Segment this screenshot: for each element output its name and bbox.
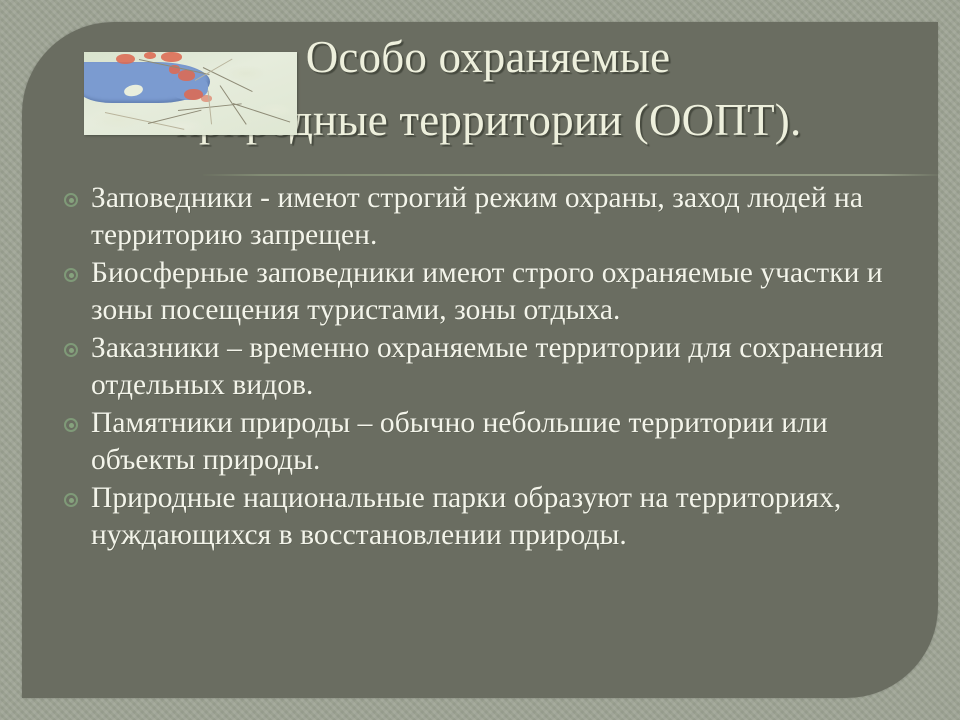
list-item: Памятники природы – обычно небольшие тер… — [58, 405, 898, 479]
list-item-text: Природные национальные парки образуют на… — [91, 480, 898, 554]
list-item: Природные национальные парки образуют на… — [58, 480, 898, 554]
title-underline-rule — [203, 174, 938, 176]
bullet-list: Заповедники - имеют строгий режим охраны… — [58, 180, 898, 555]
ring-bullet-icon — [64, 493, 78, 507]
map-city-patch — [178, 70, 195, 81]
ring-bullet-icon — [64, 268, 78, 282]
ring-bullet-icon — [64, 343, 78, 357]
list-item: Биосферные заповедники имеют строго охра… — [58, 255, 898, 329]
list-item-text: Заповедники - имеют строгий режим охраны… — [91, 180, 898, 254]
list-item-text: Памятники природы – обычно небольшие тер… — [91, 405, 898, 479]
list-item-text: Заказники – временно охраняемые территор… — [91, 330, 898, 404]
ring-bullet-icon — [64, 418, 78, 432]
map-city-patch — [201, 95, 212, 102]
map-city-patch — [161, 52, 182, 62]
list-item-text: Биосферные заповедники имеют строго охра… — [91, 255, 898, 329]
list-item: Заказники – временно охраняемые территор… — [58, 330, 898, 404]
terrain-map-thumbnail-icon — [84, 52, 297, 135]
slide-outer-background: Особо охраняемые природные территории (О… — [0, 0, 960, 720]
ring-bullet-icon — [64, 193, 78, 207]
list-item: Заповедники - имеют строгий режим охраны… — [58, 180, 898, 254]
slide-content-panel: Особо охраняемые природные территории (О… — [22, 22, 938, 698]
